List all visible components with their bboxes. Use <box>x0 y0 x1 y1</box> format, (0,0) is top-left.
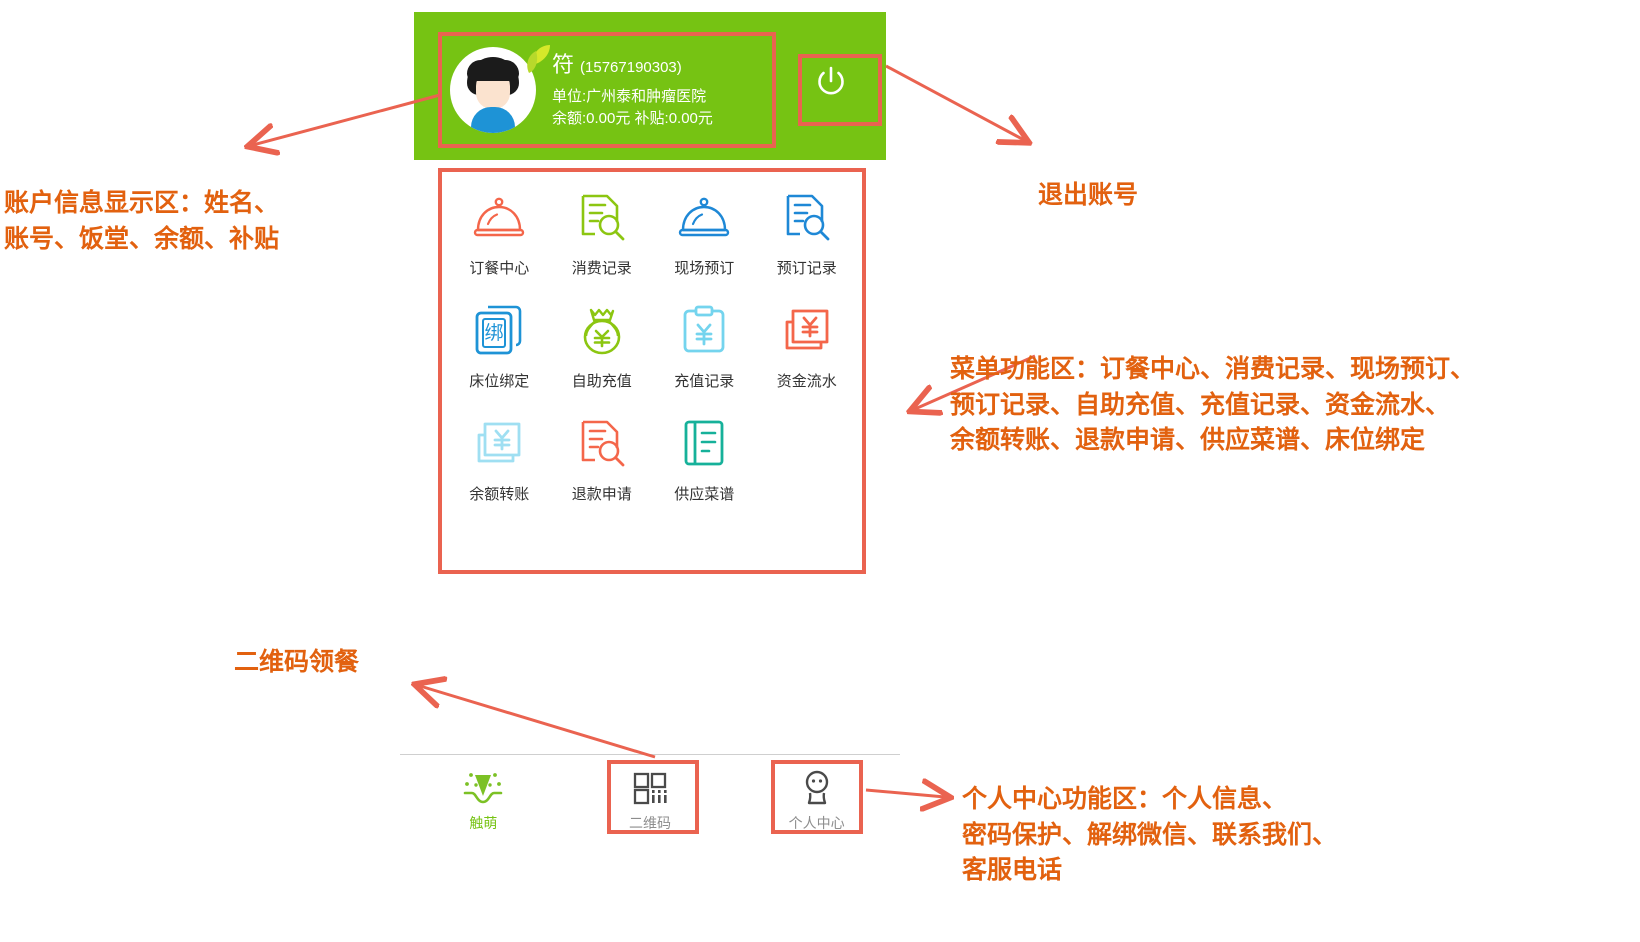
menu-grid-spacer <box>756 415 859 504</box>
menu-item-label: 预订记录 <box>777 257 837 278</box>
arrow-logout <box>886 66 1024 140</box>
svg-text:绑: 绑 <box>485 322 504 344</box>
menu-item-fund-flow[interactable]: 资金流水 <box>756 302 859 391</box>
tab-label: 二维码 <box>629 813 671 833</box>
person-icon <box>796 769 838 807</box>
tab-label: 触萌 <box>469 813 497 833</box>
annotation-profile-area: 个人中心功能区：个人信息、 密码保护、解绑微信、联系我们、 客服电话 <box>962 782 1337 889</box>
tab-label: 个人中心 <box>789 813 845 833</box>
account-header: 符 (15767190303) 单位:广州泰和肿瘤医院 余额:0.00元 补贴:… <box>414 12 886 160</box>
document-search-icon <box>779 189 835 245</box>
account-name: 符 <box>552 51 574 79</box>
bottom-tab-bar: 触萌 二维码 个人中心 <box>400 754 900 846</box>
account-unit: 单位:广州泰和肿瘤医院 <box>552 88 713 107</box>
qrcode-icon <box>629 769 671 807</box>
annotation-qrcode: 二维码领餐 <box>234 645 359 681</box>
annotation-menu-area: 菜单功能区：订餐中心、消费记录、现场预订、 预订记录、自助充值、充值记录、资金流… <box>950 352 1475 459</box>
menu-item-label: 订餐中心 <box>469 257 529 278</box>
menu-item-label: 退款申请 <box>572 483 632 504</box>
menu-item-label: 自助充值 <box>572 370 632 391</box>
power-icon <box>813 64 849 100</box>
sprout-icon <box>462 769 504 807</box>
menu-item-label: 现场预订 <box>674 257 734 278</box>
menu-item-label: 余额转账 <box>469 483 529 504</box>
account-phone: (15767190303) <box>580 59 682 78</box>
menu-item-recharge-records[interactable]: 充值记录 <box>653 302 756 391</box>
tab-qrcode[interactable]: 二维码 <box>567 755 734 846</box>
food-cloche-icon <box>471 189 527 245</box>
menu-item-label: 消费记录 <box>572 257 632 278</box>
food-cloche-icon <box>676 189 732 245</box>
menu-panel: 订餐中心 消费记录 <box>440 167 866 577</box>
menu-item-balance-transfer[interactable]: 余额转账 <box>448 415 551 504</box>
menu-item-booking-records[interactable]: 预订记录 <box>756 189 859 278</box>
yuan-flow-icon <box>779 302 835 358</box>
tab-home[interactable]: 触萌 <box>400 755 567 846</box>
menu-item-label: 床位绑定 <box>469 370 529 391</box>
account-info-block[interactable]: 符 (15767190303) 单位:广州泰和肿瘤医院 余额:0.00元 补贴:… <box>442 36 774 144</box>
menu-grid: 订餐中心 消费记录 <box>440 167 866 504</box>
account-balance: 余额:0.00元 补贴:0.00元 <box>552 110 713 129</box>
menu-book-icon <box>676 415 732 471</box>
leaf-icon <box>512 43 552 83</box>
document-search-icon <box>574 415 630 471</box>
menu-item-label: 资金流水 <box>777 370 837 391</box>
document-search-icon <box>574 189 630 245</box>
tab-profile[interactable]: 个人中心 <box>733 755 900 846</box>
yuan-transfer-icon <box>471 415 527 471</box>
avatar[interactable] <box>450 47 536 133</box>
arrow-qrcode <box>420 686 655 757</box>
menu-item-order-center[interactable]: 订餐中心 <box>448 189 551 278</box>
annotation-account-area: 账户信息显示区：姓名、 账号、饭堂、余额、补贴 <box>4 186 279 257</box>
clipboard-yuan-icon <box>676 302 732 358</box>
menu-item-refund-request[interactable]: 退款申请 <box>551 415 654 504</box>
menu-item-self-recharge[interactable]: 自助充值 <box>551 302 654 391</box>
menu-item-label: 供应菜谱 <box>674 483 734 504</box>
menu-item-consumption-records[interactable]: 消费记录 <box>551 189 654 278</box>
menu-item-supply-menu[interactable]: 供应菜谱 <box>653 415 756 504</box>
bed-binding-icon: 绑 <box>471 302 527 358</box>
annotation-logout: 退出账号 <box>1038 178 1138 214</box>
money-bag-icon <box>574 302 630 358</box>
logout-button[interactable] <box>796 54 866 110</box>
menu-item-label: 充值记录 <box>674 370 734 391</box>
menu-item-bed-binding[interactable]: 绑 床位绑定 <box>448 302 551 391</box>
account-text-block: 符 (15767190303) 单位:广州泰和肿瘤医院 余额:0.00元 补贴:… <box>552 51 713 129</box>
menu-item-onsite-booking[interactable]: 现场预订 <box>653 189 756 278</box>
arrow-account <box>253 95 440 145</box>
